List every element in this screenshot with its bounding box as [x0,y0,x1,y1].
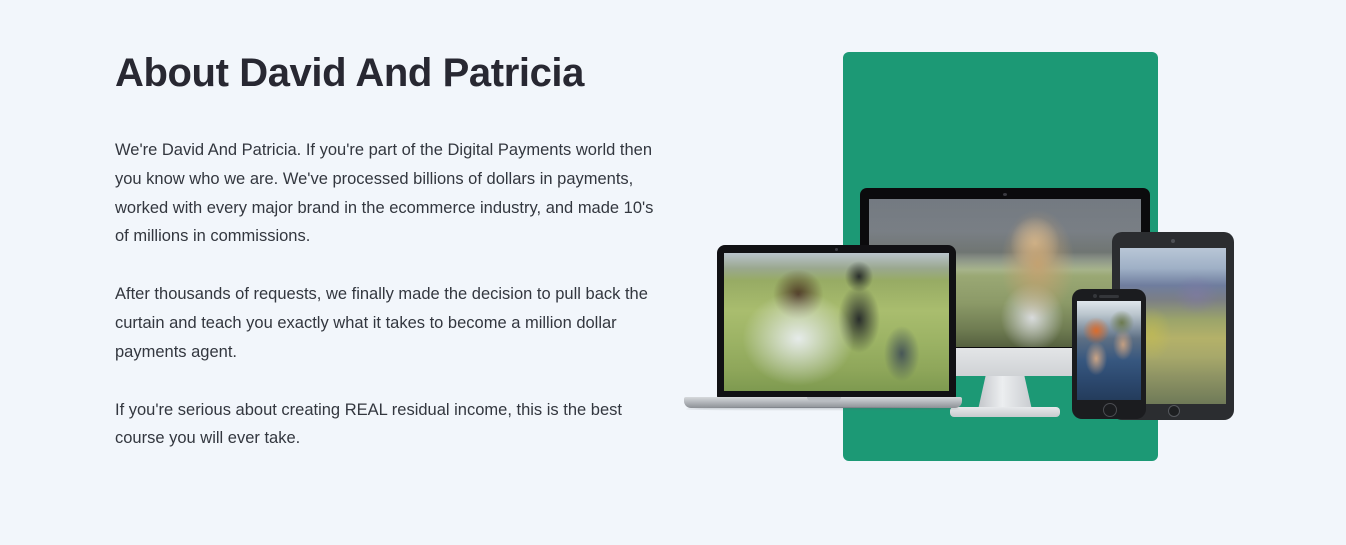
laptop-device [684,245,964,425]
laptop-screen [724,253,949,391]
laptop-shadow [686,407,960,411]
webcam-icon [835,248,838,251]
laptop-lid [717,245,956,399]
front-camera-icon [1171,239,1175,243]
phone-device [1072,289,1146,419]
about-body-copy: We're David And Patricia. If you're part… [115,136,675,453]
earpiece-speaker-icon [1099,295,1119,298]
photo-selfie-of-two-people-in-caps [1077,301,1141,400]
home-button-icon [1103,403,1117,417]
photo-woman-on-phone-at-golf-course [724,253,949,391]
monitor-stand-foot [950,407,1060,417]
monitor-stand-neck [978,376,1032,410]
webcam-icon [1003,193,1007,196]
device-mockup-illustration [680,40,1280,480]
page-title: About David And Patricia [115,48,675,98]
front-camera-icon [1093,294,1097,298]
phone-screen [1077,301,1141,400]
laptop-lid-notch [807,397,841,401]
about-text-column: About David And Patricia We're David And… [115,48,675,453]
home-button-icon [1168,405,1180,417]
about-paragraph-1: We're David And Patricia. If you're part… [115,136,660,251]
about-section-page: About David And Patricia We're David And… [0,0,1346,545]
about-paragraph-3: If you're serious about creating REAL re… [115,396,660,454]
about-paragraph-2: After thousands of requests, we finally … [115,280,660,366]
